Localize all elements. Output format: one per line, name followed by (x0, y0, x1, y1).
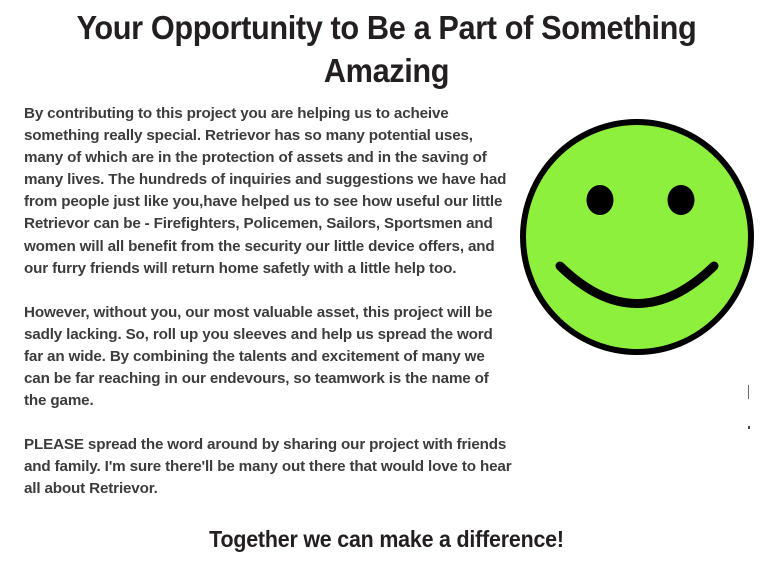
paragraph-1: By contributing to this project you are … (24, 103, 514, 280)
stray-tick-mark (748, 385, 749, 399)
smiley-right-eye (668, 185, 695, 215)
smiley-face-circle (523, 122, 751, 352)
smiley-face-icon (518, 116, 758, 358)
stray-dot-mark (748, 426, 750, 429)
page-title: Your Opportunity to Be a Part of Somethi… (27, 6, 746, 92)
paragraph-2: However, without you, our most valuable … (24, 302, 514, 412)
smiley-left-eye (587, 185, 614, 215)
page-canvas: Your Opportunity to Be a Part of Somethi… (0, 0, 773, 565)
body-copy: By contributing to this project you are … (24, 103, 514, 501)
smiley-face-illustration (518, 116, 758, 358)
footer-tagline: Together we can make a difference! (27, 524, 746, 554)
paragraph-3: PLEASE spread the word around by sharing… (24, 434, 514, 500)
